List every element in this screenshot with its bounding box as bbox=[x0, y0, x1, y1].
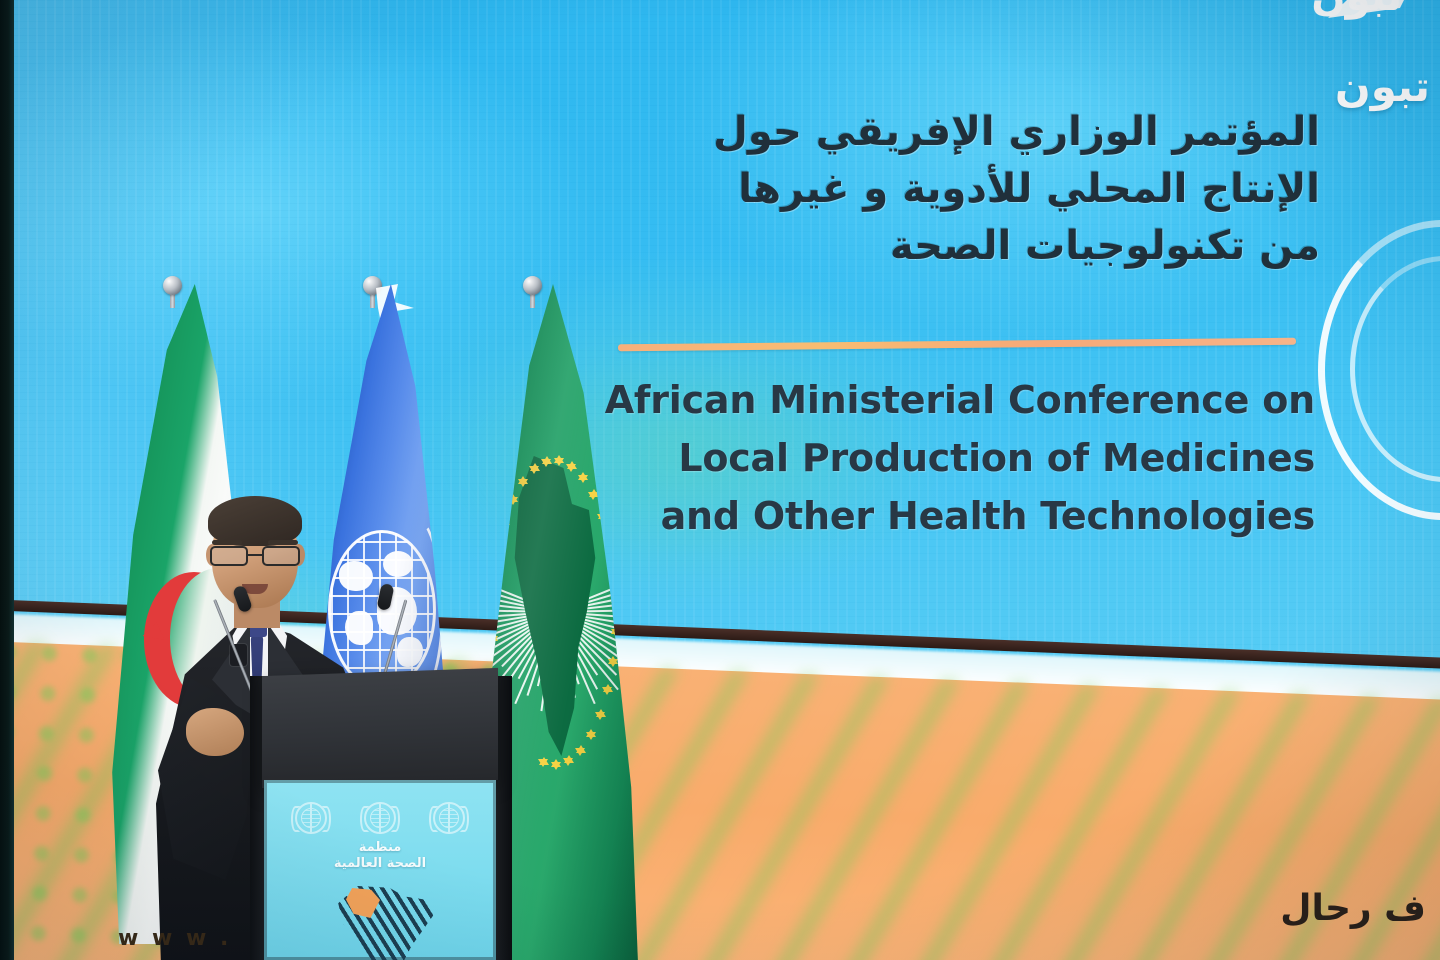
backdrop-white-arabic: تبون bbox=[1335, 62, 1430, 111]
backdrop-website-text: w w w . bbox=[118, 926, 231, 951]
title-arabic-line-3: من تكنولوجيات الصحة bbox=[560, 218, 1320, 275]
backdrop-sand-arabic: ف رحال bbox=[1280, 888, 1426, 929]
title-arabic-line-2: الإنتاج المحلي للأدوية و غيرها bbox=[560, 161, 1320, 218]
podium-org-line-2: الصحة العالمية bbox=[264, 856, 496, 872]
au-star-icon bbox=[500, 517, 510, 525]
podium-org-line-1: منظمة bbox=[264, 840, 496, 856]
speaker-hand bbox=[186, 708, 244, 756]
backdrop-white-arabic-top: تبون bbox=[1311, 0, 1402, 20]
backdrop-title-arabic: المؤتمر الوزاري الإفريقي حول الإنتاج الم… bbox=[560, 104, 1320, 274]
title-english-line-3: and Other Health Technologies bbox=[600, 488, 1315, 546]
flag-finial-algeria-icon bbox=[163, 276, 182, 295]
title-english-line-1: African Ministerial Conference on bbox=[600, 372, 1315, 430]
speaker-hair bbox=[208, 496, 302, 546]
au-star-icon bbox=[489, 572, 499, 580]
speaker-eyeglasses bbox=[208, 546, 304, 568]
au-star-icon bbox=[604, 537, 614, 545]
backdrop-title-english: African Ministerial Conference on Local … bbox=[600, 372, 1315, 545]
screenshot-stage: تبون تبون المؤتمر الوزاري الإفريقي حول ا… bbox=[0, 0, 1440, 960]
title-english-line-2: Local Production of Medicines bbox=[600, 430, 1315, 488]
flag-finial-au-icon bbox=[523, 276, 542, 295]
au-star-icon bbox=[609, 565, 619, 573]
who-logo-left-icon bbox=[291, 798, 331, 838]
podium-organization-text: منظمة الصحة العالمية bbox=[264, 840, 496, 873]
au-star-icon bbox=[488, 603, 498, 611]
title-arabic-line-1: المؤتمر الوزاري الإفريقي حول bbox=[560, 104, 1320, 161]
who-logo-right-icon bbox=[429, 798, 469, 838]
au-star-icon bbox=[611, 595, 621, 603]
who-logo-center-icon bbox=[360, 798, 400, 838]
podium-logo-row bbox=[276, 796, 484, 840]
podium-desk bbox=[262, 668, 498, 788]
au-star-icon bbox=[493, 543, 503, 551]
led-screen-left-edge bbox=[0, 0, 14, 960]
